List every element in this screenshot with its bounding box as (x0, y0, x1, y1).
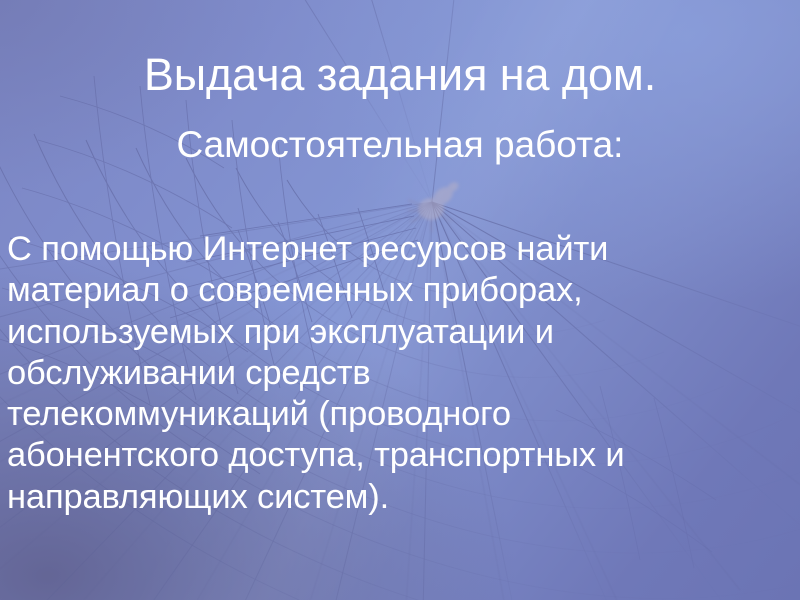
body-line: направляющих систем). (7, 477, 793, 518)
body-line: телекоммуникаций (проводного (7, 394, 793, 435)
slide-title: Выдача задания на дом. (0, 52, 800, 98)
slide-body-text: С помощью Интернет ресурсов найти матери… (7, 229, 793, 518)
slide-subtitle: Самостоятельная работа: (0, 126, 800, 164)
body-line: С помощью Интернет ресурсов найти (7, 229, 793, 270)
presentation-slide: Выдача задания на дом. Самостоятельная р… (0, 0, 800, 600)
slide-text-layer: Выдача задания на дом. Самостоятельная р… (0, 0, 800, 600)
body-line: материал о современных приборах, (7, 270, 793, 311)
body-line: обслуживании средств (7, 353, 793, 394)
body-line: используемых при эксплуатации и (7, 312, 793, 353)
body-line: абонентского доступа, транспортных и (7, 435, 793, 476)
